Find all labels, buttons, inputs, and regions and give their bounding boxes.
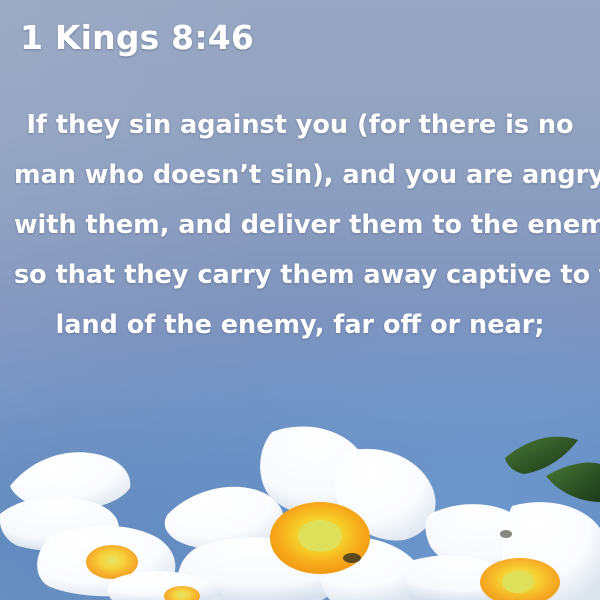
verse-image-card: 1 Kings 8:46 If they sin against you (fo… — [0, 0, 600, 600]
verse-body: If they sin against you (for there is no… — [0, 100, 600, 350]
verse-line: with them, and deliver them to the enemy… — [14, 200, 586, 250]
text-layer: 1 Kings 8:46 If they sin against you (fo… — [0, 0, 600, 600]
verse-line: land of the enemy, far off or near; — [14, 300, 586, 350]
verse-line: so that they carry them away captive to … — [14, 250, 586, 300]
verse-line: If they sin against you (for there is no — [14, 100, 586, 150]
verse-reference-title: 1 Kings 8:46 — [20, 18, 254, 57]
verse-line: man who doesn’t sin), and you are angry — [14, 150, 586, 200]
